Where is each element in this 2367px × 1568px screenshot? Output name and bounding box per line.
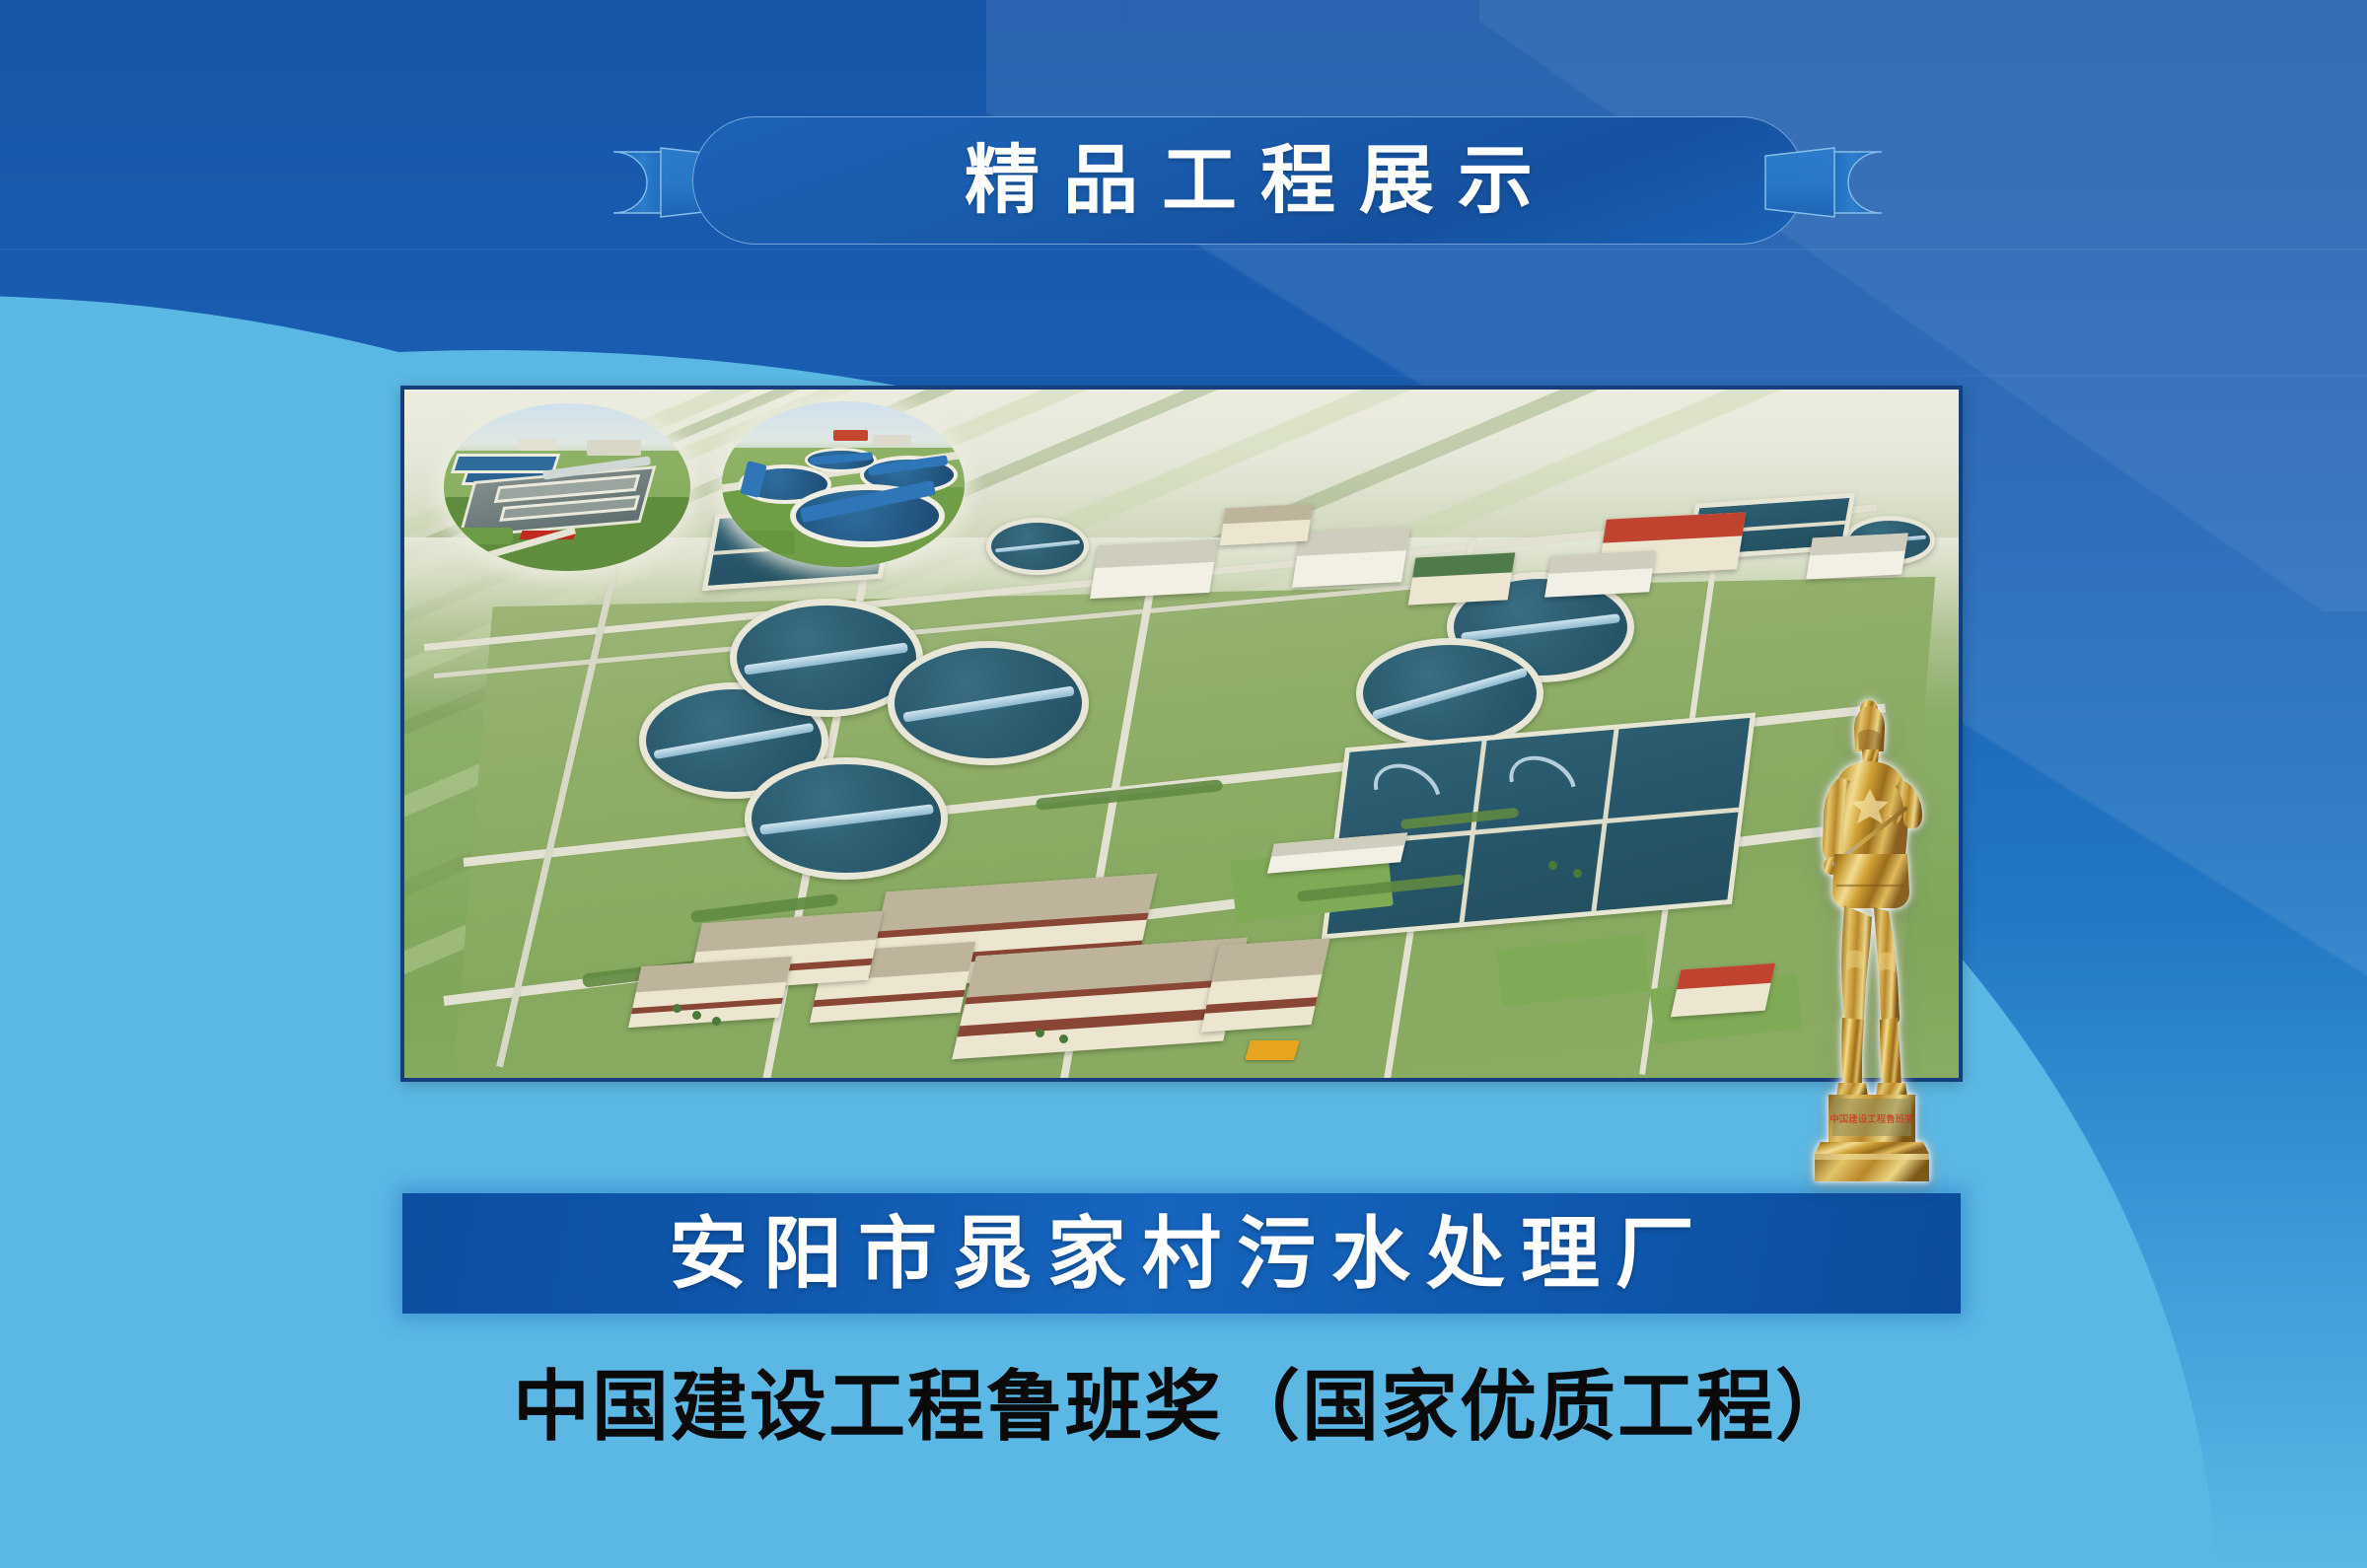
main-photo-frame [400, 386, 1963, 1082]
plant-building [1806, 534, 1908, 580]
clarifier-tank-small [986, 518, 1089, 575]
header-banner-pill: 精品工程展示 [692, 116, 1805, 245]
plant-building [1090, 539, 1218, 599]
project-title-bar: 安阳市晁家村污水处理厂 [402, 1193, 1961, 1314]
plant-building [1544, 550, 1656, 597]
project-title-text: 安阳市晁家村污水处理厂 [653, 1214, 1710, 1293]
header-banner: 精品工程展示 [611, 116, 1884, 245]
poster-canvas: 精品工程展示 [0, 0, 2367, 1568]
plant-building [1201, 938, 1330, 1032]
ribbon-tail-right-icon [1706, 146, 1884, 219]
trophy-pedestal-text: 中国建设工程鲁班奖 [1829, 1113, 1914, 1125]
plant-building-red-roof [1671, 963, 1775, 1017]
main-photo-aerial-view [404, 390, 1959, 1078]
photo-inset-oval-1 [444, 403, 690, 571]
plant-building [1292, 527, 1410, 588]
plant-building-main [952, 938, 1248, 1060]
clarifier-tank [1356, 638, 1543, 748]
clarifier-tank [888, 641, 1089, 765]
plant-building [1408, 552, 1516, 605]
photo-inset-oval-2 [722, 401, 965, 567]
luban-award-trophy: 中国建设工程鲁班奖 [1785, 690, 1953, 1183]
plant-building [628, 957, 792, 1028]
plant-building [1220, 504, 1314, 546]
clarifier-tank [745, 757, 948, 880]
background-hairline [0, 249, 2367, 250]
award-subtitle: 中国建设工程鲁班奖（国家优质工程） [0, 1369, 2367, 1446]
header-banner-title: 精品工程展示 [941, 143, 1556, 218]
